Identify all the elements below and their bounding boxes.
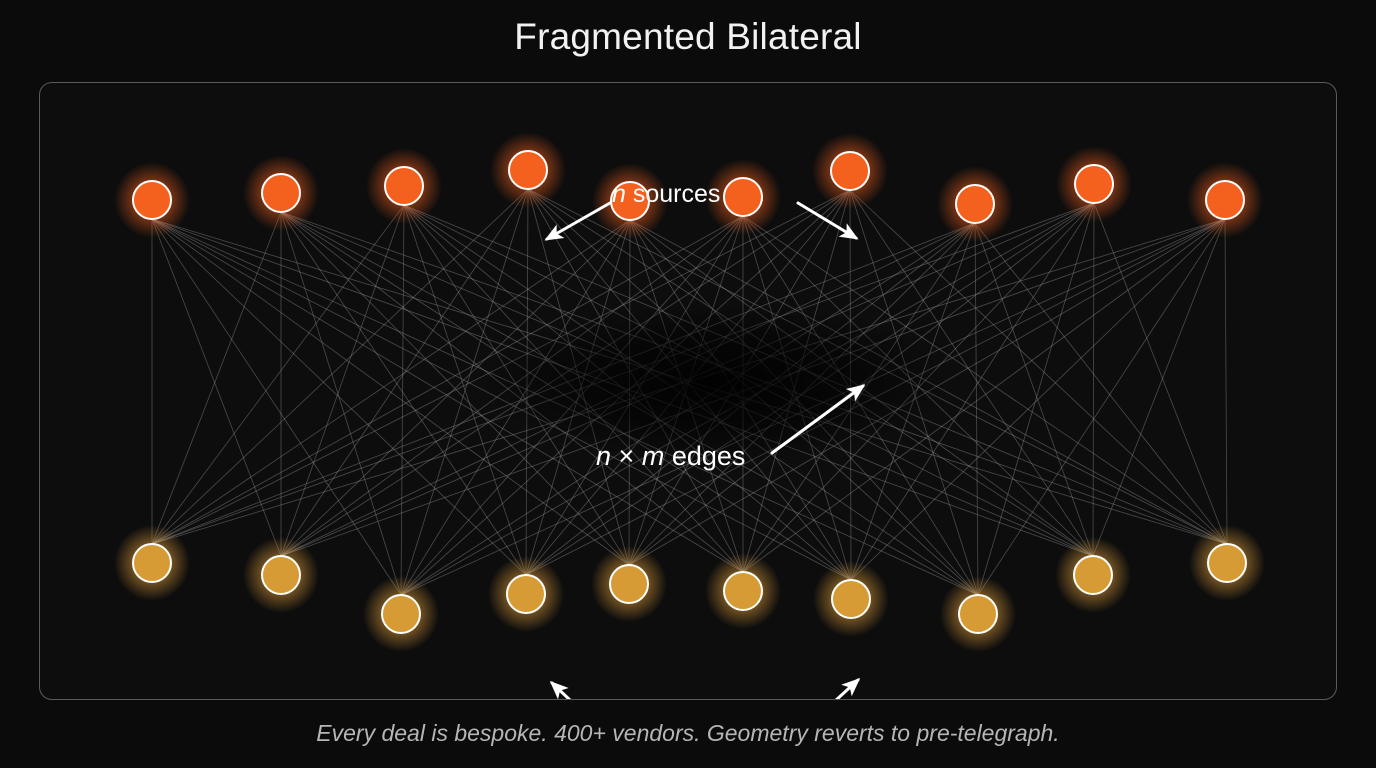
graph-edge <box>978 203 1094 595</box>
endpoint-node[interactable] <box>610 565 648 603</box>
figure-caption: Every deal is bespoke. 400+ vendors. Geo… <box>0 720 1376 747</box>
endpoint-node[interactable] <box>262 556 300 594</box>
endpoint-node[interactable] <box>133 544 171 582</box>
endpoint-node[interactable] <box>724 572 762 610</box>
source-node[interactable] <box>1206 181 1244 219</box>
graph-edge <box>975 223 1227 544</box>
graph-panel: n sources n × m edges m endpoints <box>39 82 1337 700</box>
endpoint-node[interactable] <box>959 595 997 633</box>
endpoint-node[interactable] <box>382 595 420 633</box>
source-node[interactable] <box>1075 165 1113 203</box>
source-node[interactable] <box>133 181 171 219</box>
source-node[interactable] <box>611 182 649 220</box>
center-vignette <box>481 303 951 463</box>
graph-edge <box>1094 203 1227 544</box>
graph-edge <box>1093 203 1094 556</box>
endpoint-node[interactable] <box>1074 556 1112 594</box>
page-title: Fragmented Bilateral <box>0 16 1376 58</box>
bipartite-graph <box>40 83 1337 700</box>
source-node[interactable] <box>831 152 869 190</box>
graph-edge <box>1225 219 1227 544</box>
graph-edge <box>1093 219 1225 556</box>
source-node[interactable] <box>262 174 300 212</box>
graph-edge <box>152 219 281 556</box>
source-node[interactable] <box>956 185 994 223</box>
source-node[interactable] <box>385 167 423 205</box>
graph-edge <box>152 212 281 544</box>
graph-edge <box>281 212 401 595</box>
source-node[interactable] <box>724 178 762 216</box>
endpoint-node[interactable] <box>1208 544 1246 582</box>
source-node[interactable] <box>509 151 547 189</box>
graph-edge <box>281 205 404 556</box>
endpoint-node[interactable] <box>507 575 545 613</box>
endpoint-node[interactable] <box>832 580 870 618</box>
diagram-canvas: Fragmented Bilateral <box>0 0 1376 768</box>
